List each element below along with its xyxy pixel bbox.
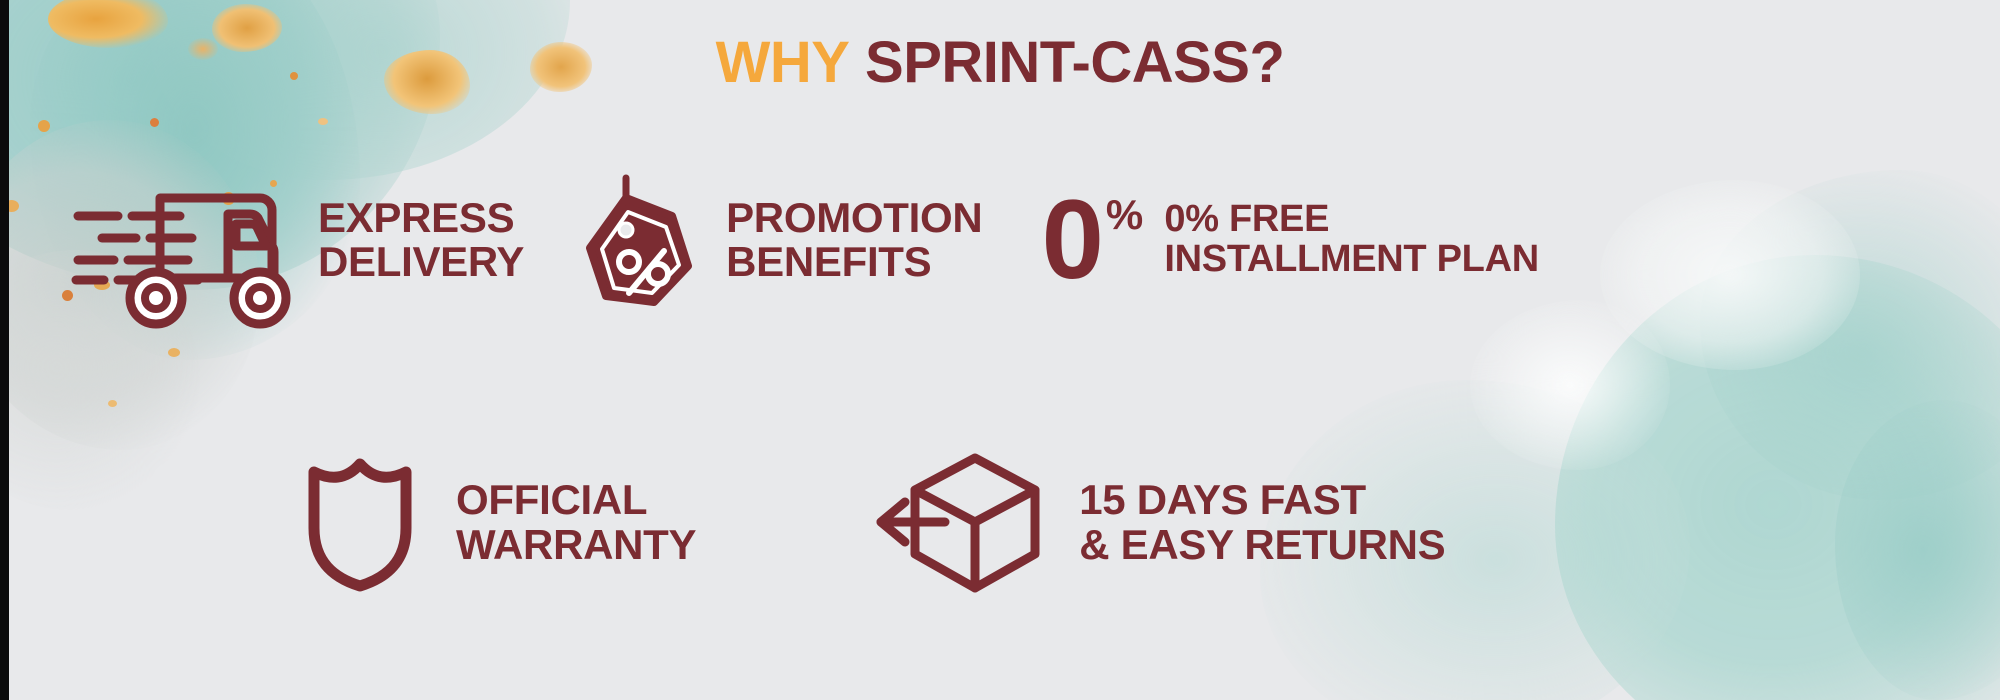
- feature-official-warranty: OFFICIAL WARRANTY: [300, 450, 696, 595]
- shield-icon: [300, 450, 430, 595]
- promotional-banner: WHY SPRINT-CASS?: [0, 0, 2000, 700]
- percent-symbol: %: [1106, 197, 1143, 234]
- label-line-1: PROMOTION: [726, 194, 982, 241]
- feature-installment-plan: 0 % 0% FREE INSTALLMENT PLAN: [1032, 170, 1538, 310]
- feature-label: 15 DAYS FAST & EASY RETURNS: [1079, 478, 1445, 566]
- page-title: WHY SPRINT-CASS?: [0, 34, 2000, 92]
- left-edge-strip: [0, 0, 9, 700]
- feature-row-bottom: OFFICIAL WARRANTY: [300, 450, 2000, 595]
- label-line-2: WARRANTY: [456, 523, 696, 567]
- label-line-1: OFFICIAL: [456, 476, 647, 523]
- label-line-2: & EASY RETURNS: [1079, 523, 1445, 567]
- feature-label: EXPRESS DELIVERY: [318, 196, 524, 284]
- label-line-2: BENEFITS: [726, 240, 982, 284]
- truck-wheels: [70, 170, 330, 370]
- label-line-1: 0% FREE: [1164, 198, 1329, 240]
- return-box-icon: [871, 450, 1061, 595]
- feature-label: 0% FREE INSTALLMENT PLAN: [1164, 200, 1538, 280]
- zero-digit: 0: [1042, 191, 1104, 290]
- feature-label: PROMOTION BENEFITS: [726, 196, 982, 284]
- label-line-1: 15 DAYS FAST: [1079, 476, 1366, 523]
- feature-promotion-benefits: PROMOTION BENEFITS: [576, 170, 982, 310]
- discount-tag-icon: [576, 170, 704, 310]
- feature-easy-returns: 15 DAYS FAST & EASY RETURNS: [871, 450, 1445, 595]
- label-line-2: INSTALLMENT PLAN: [1164, 240, 1538, 280]
- feature-label: OFFICIAL WARRANTY: [456, 478, 696, 566]
- title-highlight: WHY: [716, 30, 850, 95]
- title-brand: SPRINT-CASS?: [865, 30, 1284, 95]
- label-line-1: EXPRESS: [318, 194, 514, 241]
- zero-percent-icon: 0 %: [1032, 170, 1152, 310]
- label-line-2: DELIVERY: [318, 240, 524, 284]
